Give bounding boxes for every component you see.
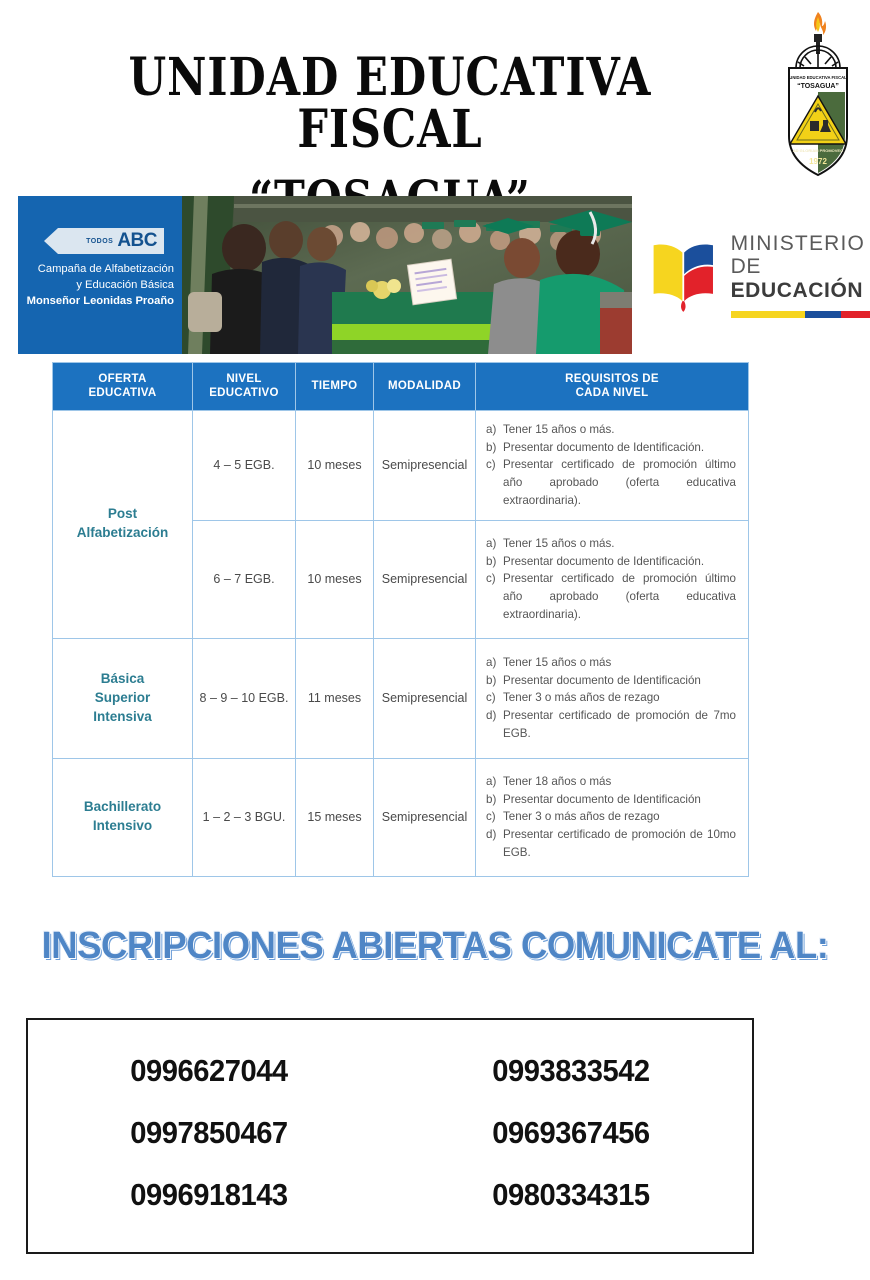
list-item: a)Tener 15 años o más bbox=[486, 654, 736, 672]
phone-number[interactable]: 0997850467 bbox=[39, 1102, 379, 1164]
pencil-arrow-icon bbox=[44, 228, 58, 254]
list-item: b)Presentar documento de Identificación. bbox=[486, 439, 736, 457]
cell-tiempo: 10 meses bbox=[296, 520, 374, 638]
cell-requisitos: a)Tener 15 años o más. b)Presentar docum… bbox=[476, 520, 749, 638]
cell-modalidad: Semipresencial bbox=[374, 520, 476, 638]
list-item: c)Tener 3 o más años de rezago bbox=[486, 689, 736, 707]
ministerio-educacion: EDUCACIÓN bbox=[731, 279, 864, 302]
column-header-oferta-educativa: OFERTA EDUCATIVA bbox=[53, 363, 193, 411]
header-oferta-l2: EDUCATIVA bbox=[56, 386, 189, 400]
ecuador-flag-bar bbox=[731, 311, 870, 318]
list-item: a)Tener 15 años o más. bbox=[486, 535, 736, 553]
cell-requisitos: a)Tener 15 años o más b)Presentar docume… bbox=[476, 638, 749, 758]
phone-row: 0997850467 0969367456 bbox=[28, 1102, 752, 1164]
cell-nivel: 6 – 7 EGB. bbox=[193, 520, 296, 638]
phone-number[interactable]: 0993833542 bbox=[401, 1040, 741, 1102]
header-nivel-l2: EDUCATIVO bbox=[196, 386, 292, 400]
column-header-requisitos: REQUISITOS DE CADA NIVEL bbox=[476, 363, 749, 411]
ministerio-line-2: DE EDUCACIÓN bbox=[731, 255, 870, 303]
ministerio-line-1: MINISTERIO bbox=[731, 232, 870, 255]
header-requisitos-l2: CADA NIVEL bbox=[479, 386, 745, 400]
school-crest-logo: UNIDAD EDUCATIVA FISCAL “TOSAGUA” AD GLO… bbox=[776, 8, 860, 184]
phone-numbers-box: 0996627044 0993833542 0997850467 0969367… bbox=[26, 1018, 754, 1254]
cell-oferta-bachillerato: Bachillerato Intensivo bbox=[53, 758, 193, 876]
list-item: b)Presentar documento de Identificación bbox=[486, 672, 736, 690]
oferta-line-3: Intensiva bbox=[57, 708, 188, 727]
abc-text-line-3: Monseñor Leonidas Proaño bbox=[24, 294, 174, 310]
cell-nivel: 4 – 5 EGB. bbox=[193, 410, 296, 520]
abc-todos-label: TODOS bbox=[86, 238, 113, 245]
crest-year: 1972 bbox=[809, 157, 827, 166]
column-header-tiempo: TIEMPO bbox=[296, 363, 374, 411]
abc-label: ABC bbox=[117, 230, 157, 252]
oferta-line-1: Básica bbox=[57, 670, 188, 689]
oferta-line-2: Superior bbox=[57, 689, 188, 708]
banner-strip: TODOS ABC Campaña de Alfabetización y Ed… bbox=[18, 196, 856, 354]
oferta-line-1: Bachillerato bbox=[57, 798, 188, 817]
table-header-row: OFERTA EDUCATIVA NIVEL EDUCATIVO TIEMPO … bbox=[53, 363, 749, 411]
cell-modalidad: Semipresencial bbox=[374, 410, 476, 520]
list-item: c)Tener 3 o más años de rezago bbox=[486, 808, 736, 826]
abc-text-line-1: Campaña de Alfabetización bbox=[24, 262, 174, 278]
requisitos-list: a)Tener 15 años o más. b)Presentar docum… bbox=[486, 421, 736, 509]
todos-abc-logo: TODOS ABC Campaña de Alfabetización y Ed… bbox=[18, 196, 182, 354]
requisitos-list: a)Tener 15 años o más b)Presentar docume… bbox=[486, 654, 736, 742]
cell-tiempo: 15 meses bbox=[296, 758, 374, 876]
list-item: b)Presentar documento de Identificación. bbox=[486, 553, 736, 571]
abc-badge: TODOS ABC bbox=[44, 228, 164, 254]
title-line-1: UNIDAD EDUCATIVA FISCAL bbox=[31, 52, 749, 156]
cell-nivel: 1 – 2 – 3 BGU. bbox=[193, 758, 296, 876]
list-item: d)Presentar certificado de promoción de … bbox=[486, 707, 736, 742]
phone-number[interactable]: 0980334315 bbox=[401, 1164, 741, 1226]
oferta-line-2: Intensivo bbox=[57, 817, 188, 836]
cell-requisitos: a)Tener 15 años o más. b)Presentar docum… bbox=[476, 410, 749, 520]
list-item: a)Tener 18 años o más bbox=[486, 773, 736, 791]
abc-campaign-text: Campaña de Alfabetización y Educación Bá… bbox=[24, 262, 174, 310]
crest-motto: AD GLORIAM PROMOVEO bbox=[793, 148, 843, 153]
phone-number[interactable]: 0969367456 bbox=[401, 1102, 741, 1164]
cell-oferta-post-alfabetizacion: Post Alfabetización bbox=[53, 410, 193, 638]
column-header-modalidad: MODALIDAD bbox=[374, 363, 476, 411]
phone-number[interactable]: 0996918143 bbox=[39, 1164, 379, 1226]
abc-text-line-2: y Educación Básica bbox=[24, 278, 174, 294]
crest-school-line: UNIDAD EDUCATIVA FISCAL bbox=[789, 75, 847, 80]
offer-table: OFERTA EDUCATIVA NIVEL EDUCATIVO TIEMPO … bbox=[52, 362, 749, 877]
cell-oferta-basica-superior: Básica Superior Intensiva bbox=[53, 638, 193, 758]
cell-tiempo: 11 meses bbox=[296, 638, 374, 758]
phone-row: 0996918143 0980334315 bbox=[28, 1164, 752, 1226]
list-item: c)Presentar certificado de promoción últ… bbox=[486, 570, 736, 623]
column-header-nivel-educativo: NIVEL EDUCATIVO bbox=[193, 363, 296, 411]
phone-row: 0996627044 0993833542 bbox=[28, 1040, 752, 1102]
phone-number[interactable]: 0996627044 bbox=[39, 1040, 379, 1102]
table-row: Básica Superior Intensiva 8 – 9 – 10 EGB… bbox=[53, 638, 749, 758]
poster-header: UNIDAD EDUCATIVA FISCAL “TOSAGUA” UNIDAD bbox=[0, 0, 870, 196]
call-to-action-text: INSCRIPCIONES ABIERTAS COMUNICATE AL: bbox=[17, 925, 852, 968]
ministerio-wordmark: MINISTERIO DE EDUCACIÓN bbox=[731, 232, 870, 318]
crest-school-name: “TOSAGUA” bbox=[797, 83, 839, 90]
list-item: a)Tener 15 años o más. bbox=[486, 421, 736, 439]
requisitos-list: a)Tener 18 años o más b)Presentar docume… bbox=[486, 773, 736, 861]
list-item: d)Presentar certificado de promoción de … bbox=[486, 826, 736, 861]
ministerio-de: DE bbox=[731, 255, 761, 278]
cell-modalidad: Semipresencial bbox=[374, 638, 476, 758]
cell-requisitos: a)Tener 18 años o más b)Presentar docume… bbox=[476, 758, 749, 876]
oferta-line-1: Post bbox=[57, 505, 188, 524]
graduation-photo bbox=[182, 196, 632, 354]
requisitos-list: a)Tener 15 años o más. b)Presentar docum… bbox=[486, 535, 736, 623]
offer-table-container: OFERTA EDUCATIVA NIVEL EDUCATIVO TIEMPO … bbox=[52, 362, 748, 877]
list-item: c)Presentar certificado de promoción últ… bbox=[486, 456, 736, 509]
header-nivel-l1: NIVEL bbox=[196, 372, 292, 386]
ministerio-educacion-logo: MINISTERIO DE EDUCACIÓN bbox=[632, 196, 870, 354]
ecuador-book-icon bbox=[650, 234, 717, 316]
header-requisitos-l1: REQUISITOS DE bbox=[479, 372, 745, 386]
cell-modalidad: Semipresencial bbox=[374, 758, 476, 876]
table-row: Post Alfabetización 4 – 5 EGB. 10 meses … bbox=[53, 410, 749, 520]
cell-tiempo: 10 meses bbox=[296, 410, 374, 520]
table-row: Bachillerato Intensivo 1 – 2 – 3 BGU. 15… bbox=[53, 758, 749, 876]
oferta-line-2: Alfabetización bbox=[57, 524, 188, 543]
cell-nivel: 8 – 9 – 10 EGB. bbox=[193, 638, 296, 758]
list-item: b)Presentar documento de Identificación bbox=[486, 791, 736, 809]
header-oferta-l1: OFERTA bbox=[56, 372, 189, 386]
